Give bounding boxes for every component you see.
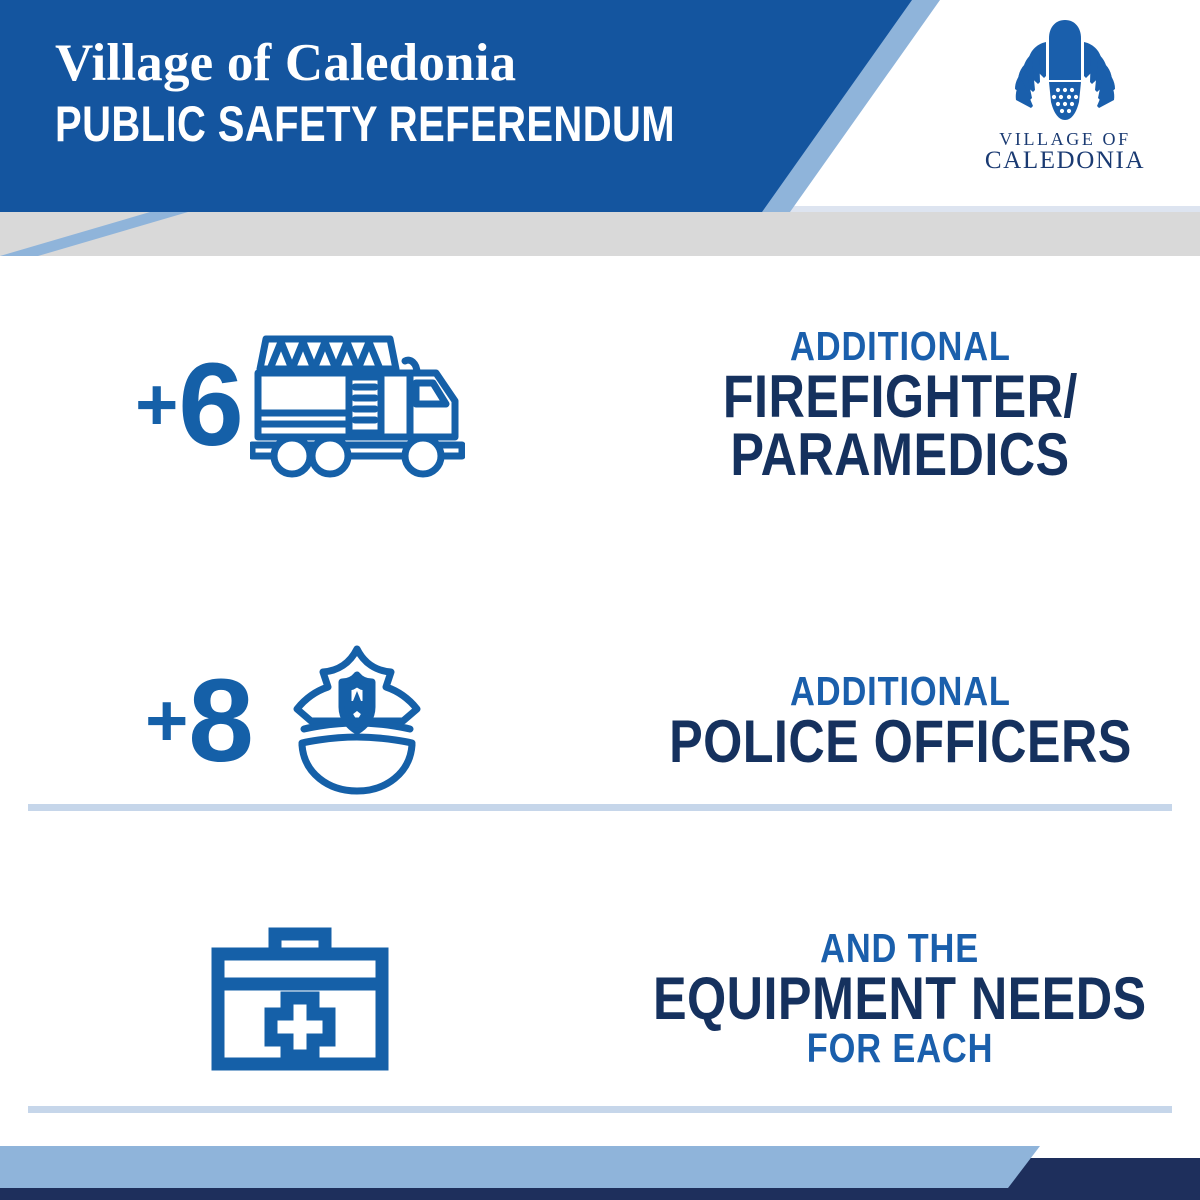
fire-truck-icon — [250, 325, 465, 485]
label-firefighter-line1: FIREFIGHTER/ — [722, 368, 1077, 426]
page-title-subject: PUBLIC SAFETY REFERENDUM — [55, 97, 679, 152]
page-footer — [0, 1116, 1200, 1200]
medical-cross-icon — [271, 998, 329, 1056]
police-hat-icon-box — [260, 639, 455, 804]
stat-row-firefighter-right: ADDITIONAL FIREFIGHTER/ PARAMEDICS — [600, 326, 1200, 484]
header-title-group: Village of Caledonia PUBLIC SAFETY REFER… — [55, 34, 835, 152]
label-firefighter-line2: PARAMEDICS — [730, 426, 1069, 484]
stat-row-firefighter-paramedics: + 6 — [0, 280, 1200, 530]
count-value: 6 — [178, 346, 242, 464]
logo-text-village-of: VILLAGE OF — [965, 130, 1165, 148]
first-aid-kit-icon — [205, 922, 395, 1077]
label-police-officers: POLICE OFFICERS — [669, 713, 1132, 771]
count-firefighter: + 6 — [135, 346, 242, 464]
stat-row-equipment-left — [0, 922, 600, 1077]
label-additional-police: ADDITIONAL — [790, 671, 1011, 713]
caledonia-tree-logo-icon — [1005, 18, 1125, 126]
police-hat-icon — [260, 639, 455, 804]
village-logo: VILLAGE OF CALEDONIA — [965, 18, 1165, 186]
label-and-the: AND THE — [821, 928, 980, 970]
stat-row-equipment-right: AND THE EQUIPMENT NEEDS FOR EACH — [600, 928, 1200, 1070]
count-plus-sign: + — [145, 684, 186, 758]
first-aid-kit-icon-box — [205, 922, 395, 1077]
count-plus-sign: + — [135, 368, 176, 442]
count-police: + 8 — [145, 662, 252, 780]
page-header: Village of Caledonia PUBLIC SAFETY REFER… — [0, 0, 1200, 256]
label-for-each: FOR EACH — [807, 1028, 994, 1070]
count-value: 8 — [188, 662, 252, 780]
stat-row-firefighter-left: + 6 — [0, 325, 600, 485]
stat-row-police-left: + 8 — [0, 639, 600, 804]
fire-truck-icon-box — [250, 325, 465, 485]
stat-row-equipment-needs: AND THE EQUIPMENT NEEDS FOR EACH — [0, 884, 1200, 1114]
logo-text-caledonia: CALEDONIA — [965, 148, 1165, 174]
page-title-municipality: Village of Caledonia — [55, 34, 835, 93]
main-content: + 6 — [0, 256, 1200, 1116]
label-additional-firefighter: ADDITIONAL — [790, 326, 1011, 368]
stat-row-police-right: ADDITIONAL POLICE OFFICERS — [600, 671, 1200, 771]
label-equipment-needs: EQUIPMENT NEEDS — [653, 970, 1147, 1028]
stat-row-police-officers: + 8 — [0, 596, 1200, 846]
header-gray-band — [0, 212, 1200, 256]
